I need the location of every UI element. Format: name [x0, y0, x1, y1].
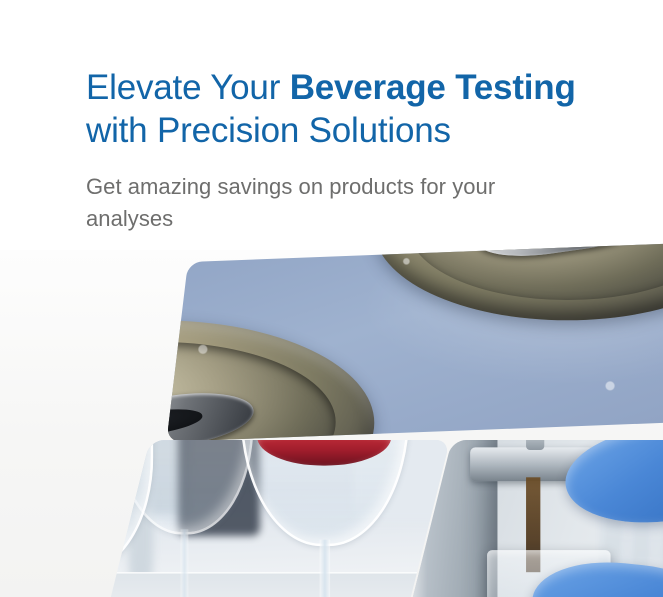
page-title: Elevate Your Beverage Testing — [86, 66, 626, 109]
image-wine-glasses-laboratory — [106, 440, 450, 597]
brewery-photo — [408, 440, 663, 597]
glass-bowl — [241, 440, 409, 546]
glass-stem — [180, 529, 188, 597]
image-brewery-beer-sampling — [408, 440, 663, 597]
cans-photo — [166, 242, 663, 442]
headline-line2: with Precision Solutions — [86, 111, 451, 150]
page-title-line2: with Precision Solutions — [86, 109, 626, 152]
headline-line1-regular: Elevate Your — [86, 68, 290, 107]
wine-lab-photo — [106, 440, 450, 597]
image-beverage-cans-condensation — [166, 242, 663, 442]
glass-stem — [320, 539, 330, 597]
beverage-testing-promo-banner: Elevate Your Beverage Testing with Preci… — [0, 0, 663, 597]
headline-line1-strong: Beverage Testing — [290, 68, 576, 107]
promo-subheadline: Get amazing savings on products for your… — [86, 171, 516, 235]
red-wine-liquid — [258, 440, 392, 466]
promo-text-block: Elevate Your Beverage Testing with Preci… — [86, 66, 626, 235]
red-wine-glass — [241, 440, 409, 597]
condensation-droplets — [166, 242, 663, 442]
